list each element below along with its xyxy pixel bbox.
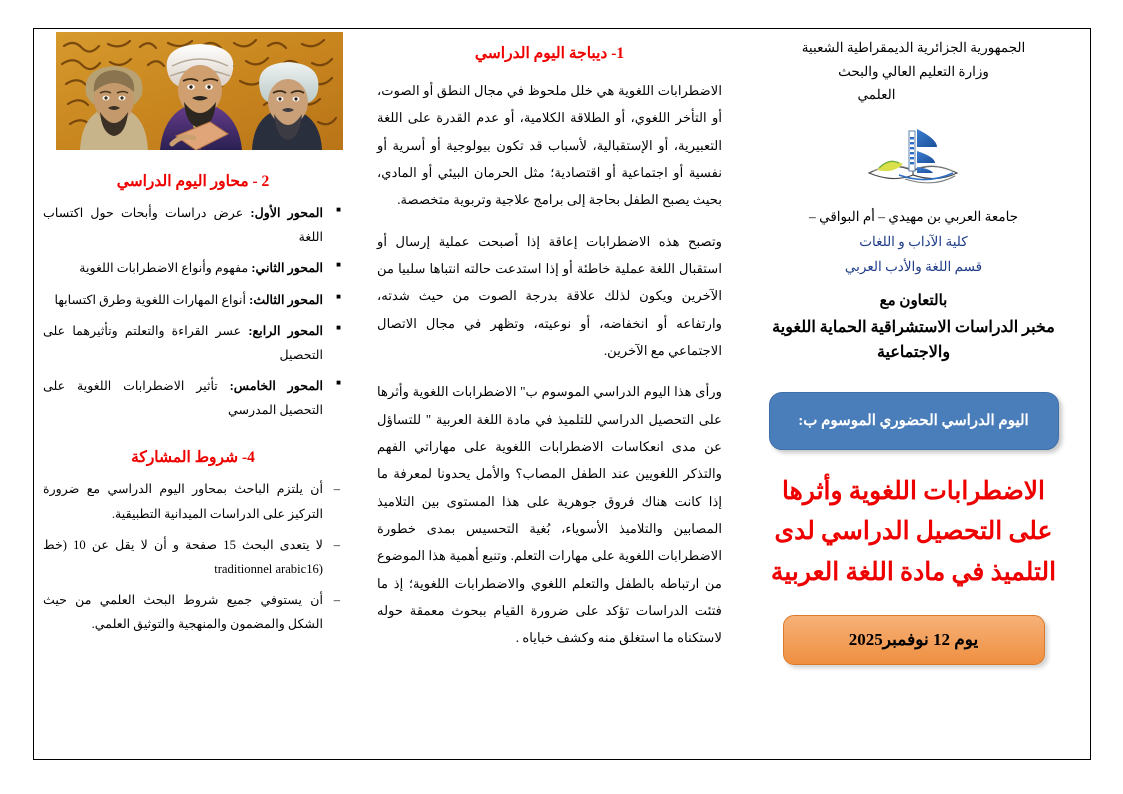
axis-label: المحور الثالث:	[249, 293, 323, 307]
laboratory-name: مخبر الدراسات الاستشراقية الحماية اللغوي…	[752, 316, 1075, 366]
list-item: المحور الرابع: عسر القراءة والتعلتم وتأث…	[43, 319, 343, 367]
axes-list: المحور الأول: عرض دراسات وأبحات حول اكتس…	[43, 201, 343, 422]
right-column: 2 - محاور اليوم الدراسي المحور الأول: عر…	[33, 28, 363, 760]
department-name: قسم اللغة والأدب العربي	[752, 255, 1075, 280]
axis-label: المحور الأول:	[250, 206, 323, 220]
condition-text: لا يتعدى البحث 15 صفحة و أن لا يقل عن 10…	[43, 538, 323, 552]
preamble-paragraph-1: الاضطرابات اللغوية هي خلل ملحوظ في مجال …	[377, 77, 722, 214]
page-title: الاضطرابات اللغوية وأثرها على التحصيل ال…	[764, 472, 1064, 594]
list-item: المحور الثاني: مفهوم وأنواع الاضطرابات ا…	[43, 256, 343, 280]
list-item: أن يلتزم الباحث بمحاور اليوم الدراسي مع …	[43, 477, 343, 525]
list-item: المحور الثالث: أنواع المهارات اللغوية وط…	[43, 288, 343, 312]
axis-text: أنواع المهارات اللغوية وطرق اكتسابها	[54, 293, 249, 307]
condition-text: أن يلتزم الباحث بمحاور اليوم الدراسي مع …	[43, 482, 323, 520]
faculty-name: كلية الآداب و اللغات	[752, 230, 1075, 255]
axis-label: المحور الثاني:	[251, 261, 323, 275]
ministry-line: وزارة التعليم العالي والبحث	[752, 60, 1075, 84]
list-item: المحور الخامس: تأثير الاضطرابات اللغوية …	[43, 374, 343, 422]
list-item: لا يتعدى البحث 15 صفحة و أن لا يقل عن 10…	[43, 533, 343, 581]
conditions-section-title: 4- شروط المشاركة	[43, 448, 343, 467]
flyer-columns: 2 - محاور اليوم الدراسي المحور الأول: عر…	[33, 28, 1091, 760]
date-banner: يوم 12 نوفمبر2025	[783, 615, 1045, 665]
conditions-list: أن يلتزم الباحث بمحاور اليوم الدراسي مع …	[43, 477, 343, 636]
middle-column: 1- ديباجة اليوم الدراسي الاضطرابات اللغو…	[363, 28, 736, 760]
axes-section-title: 2 - محاور اليوم الدراسي	[43, 172, 343, 191]
event-type-banner: اليوم الدراسي الحضوري الموسوم ب:	[769, 392, 1059, 450]
condition-text: أن يستوفي جميع شروط البحث العلمي من حيث …	[43, 593, 323, 631]
condition-font-spec: traditionnel arabic16)	[214, 557, 323, 581]
axis-label: المحور الرابع:	[248, 324, 323, 338]
republic-line: الجمهورية الجزائرية الديمقراطية الشعبية	[752, 36, 1075, 60]
three-scholars-illustration	[56, 32, 343, 150]
list-item: أن يستوفي جميع شروط البحث العلمي من حيث …	[43, 588, 343, 636]
preamble-paragraph-2: وتصبح هذه الاضطرابات إعاقة إذا أصبحت عمل…	[377, 228, 722, 365]
axis-label: المحور الخامس:	[230, 379, 323, 393]
list-item: المحور الأول: عرض دراسات وأبحات حول اكتس…	[43, 201, 343, 249]
preamble-paragraph-3: ورأى هذا اليوم الدراسي الموسوم ب" الاضطر…	[377, 378, 722, 651]
ministry-line-continued: العلمي	[752, 83, 1075, 107]
collaboration-label: بالتعاون مع	[752, 289, 1075, 315]
preamble-section-title: 1- ديباجة اليوم الدراسي	[377, 44, 722, 63]
university-name: جامعة العربي بن مهيدي – أم البواقي –	[752, 205, 1075, 230]
university-logo	[859, 121, 969, 193]
left-column: الجمهورية الجزائرية الديمقراطية الشعبية …	[736, 28, 1091, 760]
axis-text: مفهوم وأنواع الاضطرابات اللغوية	[79, 261, 251, 275]
